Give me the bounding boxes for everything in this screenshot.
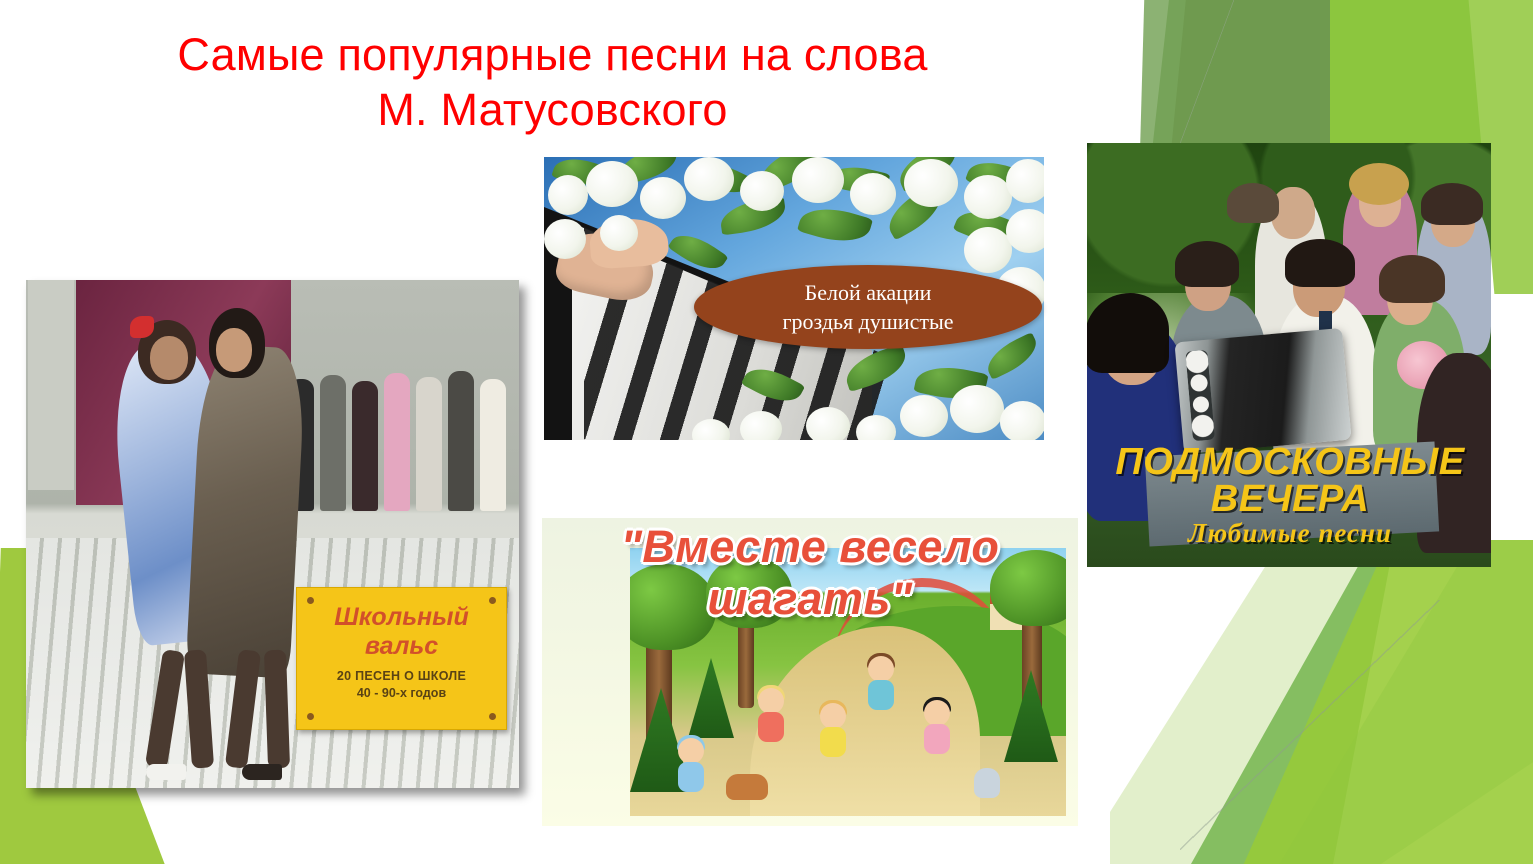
school-photo-door (28, 280, 74, 490)
together-rabbit (974, 768, 1000, 798)
decor-hairline-top-right (1174, 0, 1234, 160)
decor-shape-bottom-right-pale (1110, 540, 1533, 864)
presentation-slide: Самые популярные песни на слова М. Матус… (0, 0, 1533, 864)
together-child-4 (866, 656, 896, 716)
school-waltz-label: Школьный вальс 20 ПЕСЕН О ШКОЛЕ 40 - 90-… (296, 587, 507, 730)
school-photo-boy-face (216, 328, 252, 372)
slide-title: Самые популярные песни на слова М. Матус… (0, 28, 1105, 138)
moscow-caption-line-3: Любимые песни (1094, 520, 1486, 546)
together-child-3 (818, 703, 848, 763)
school-photo-hair-bow (130, 316, 154, 338)
school-photo-legs (146, 640, 306, 780)
together-child-1 (676, 738, 706, 798)
moscow-person-hair-2 (1349, 163, 1409, 205)
white-acacia-caption: Белой акации гроздья душистые (694, 265, 1042, 349)
acacia-caption-line-1: Белой акации (805, 280, 932, 306)
school-photo-girl-face (150, 336, 188, 380)
moscow-nights-caption: ПОДМОСКОВНЫЕ ВЕЧЕРА Любимые песни (1094, 444, 1486, 547)
together-dog (726, 774, 768, 800)
together-fir-1 (688, 658, 734, 738)
moscow-caption-line-2: ВЕЧЕРА (1094, 481, 1486, 518)
decor-shape-bottom-right-lime-2 (1330, 540, 1533, 864)
decor-shape-bottom-right-soft (1270, 540, 1533, 864)
moscow-person-hair-1 (1227, 183, 1279, 223)
school-label-line-4: 40 - 90-х годов (297, 686, 506, 700)
moscow-accordionist-hair (1175, 241, 1239, 287)
school-label-line-3: 20 ПЕСЕН О ШКОЛЕ (297, 669, 506, 683)
school-label-line-1: Школьный (297, 604, 506, 632)
moscow-caption-line-1: ПОДМОСКОВНЫЕ (1094, 444, 1486, 481)
decor-shape-bottom-right-lime (1230, 540, 1533, 864)
decor-shape-bottom-right-mid (1150, 545, 1533, 864)
moscow-accordion (1174, 328, 1351, 454)
decor-hairline-bottom-right (1180, 600, 1440, 850)
together-child-2 (756, 688, 786, 748)
moscow-woman-hair (1379, 255, 1445, 303)
acacia-caption-line-2: гроздья душистые (783, 309, 954, 335)
walk-together-caption: "Вместе весело шагать" (542, 521, 1078, 625)
together-child-5 (922, 700, 952, 760)
school-label-line-2: вальс (297, 632, 506, 661)
moscow-foreground-woman-hair (1087, 293, 1169, 373)
moscow-man-hair (1285, 239, 1355, 287)
moscow-person-hair-3 (1421, 183, 1483, 225)
